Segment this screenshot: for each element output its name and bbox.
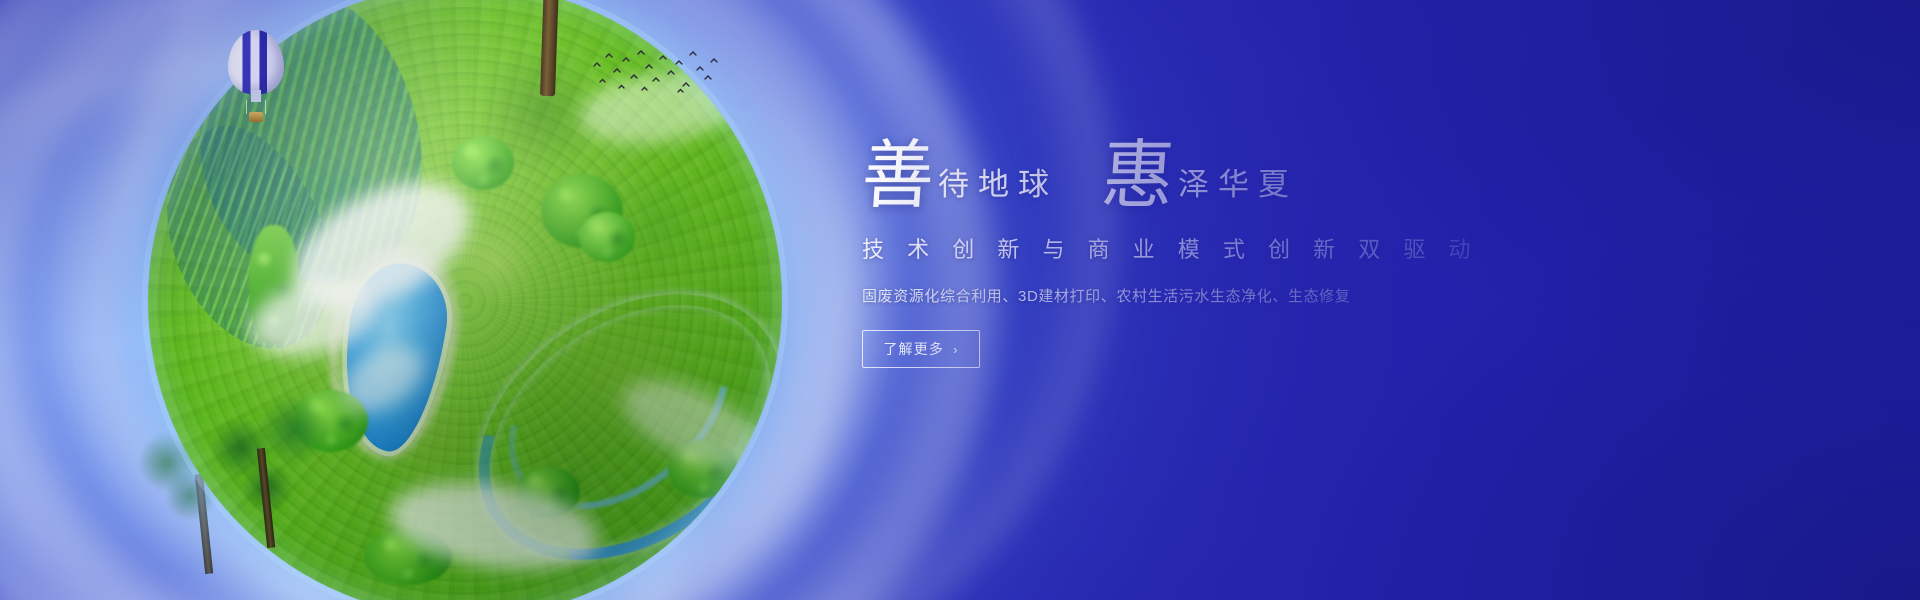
chevron-right-icon: › <box>953 342 959 357</box>
learn-more-button[interactable]: 了解更多 › <box>862 330 980 368</box>
bird-flock-icon <box>590 48 720 94</box>
hero-subtitle: 技 术 创 新 与 商 业 模 式 创 新 双 驱 动 <box>862 232 1382 264</box>
hot-air-balloon-icon <box>228 30 284 126</box>
headline-secondary-small: 泽华夏 <box>1178 169 1298 210</box>
hero-headline: 善 待地球 惠 泽华夏 <box>862 118 1382 210</box>
foreground-tree-icon <box>176 376 366 556</box>
learn-more-label: 了解更多 <box>883 339 944 359</box>
headline-primary-small: 待地球 <box>938 169 1058 210</box>
headline-primary-large: 善 <box>860 140 937 211</box>
hero-content: 善 待地球 惠 泽华夏 技 术 创 新 与 商 业 模 式 创 新 双 驱 动 … <box>862 118 1382 368</box>
headline-secondary-large: 惠 <box>1100 140 1177 211</box>
hero-banner: 善 待地球 惠 泽华夏 技 术 创 新 与 商 业 模 式 创 新 双 驱 动 … <box>0 0 1920 600</box>
hero-description: 固废资源化综合利用、3D建材打印、农村生活污水生态净化、生态修复 <box>862 285 1382 306</box>
